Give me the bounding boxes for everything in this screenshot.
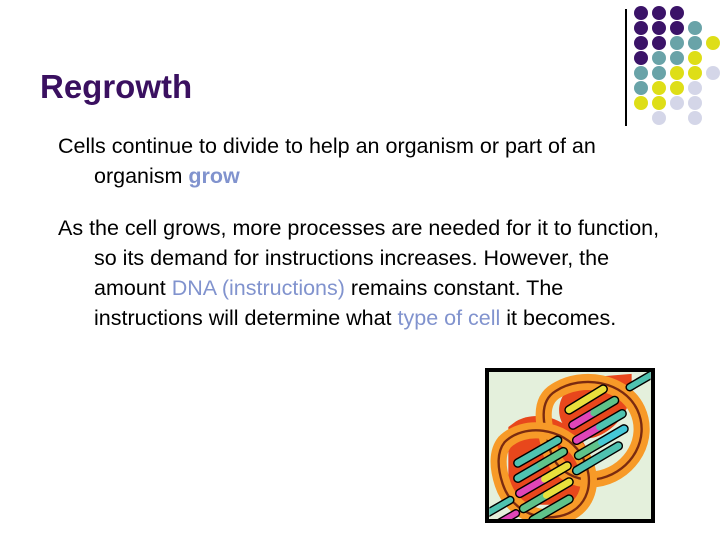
decorative-dot: [688, 36, 702, 50]
decorative-dot: [706, 66, 720, 80]
highlight-dna-instructions: DNA (instructions): [172, 276, 345, 300]
highlight-type-of-cell: type of cell: [398, 306, 501, 330]
decorative-dot: [670, 96, 684, 110]
body-paragraph-2: As the cell grows, more processes are ne…: [58, 213, 673, 333]
decorative-dot: [688, 111, 702, 125]
decorative-dot: [652, 66, 666, 80]
decorative-dot: [652, 96, 666, 110]
decorative-dot: [634, 66, 648, 80]
dna-helix-icon: [489, 372, 651, 519]
title-vertical-rule: [625, 9, 627, 126]
decorative-dot: [670, 36, 684, 50]
decorative-dot: [652, 21, 666, 35]
decorative-dot: [652, 111, 666, 125]
paragraph-1-text: Cells continue to divide to help an orga…: [58, 134, 596, 188]
highlight-grow: grow: [188, 164, 239, 188]
paragraph-2-text-c: it becomes.: [500, 306, 616, 330]
decorative-dot: [670, 51, 684, 65]
slide-canvas: Regrowth Cells continue to divide to hel…: [0, 0, 720, 540]
body-paragraph-1: Cells continue to divide to help an orga…: [58, 131, 673, 191]
decorative-dot: [652, 51, 666, 65]
decorative-dot: [688, 81, 702, 95]
decorative-dot: [634, 6, 648, 20]
decorative-dot-matrix: [634, 6, 720, 118]
decorative-dot: [634, 81, 648, 95]
decorative-dot: [670, 81, 684, 95]
decorative-dot: [652, 6, 666, 20]
decorative-dot: [634, 21, 648, 35]
page-title: Regrowth: [40, 68, 192, 106]
decorative-dot: [670, 21, 684, 35]
decorative-dot: [634, 36, 648, 50]
decorative-dot: [670, 66, 684, 80]
decorative-dot: [634, 96, 648, 110]
dna-double-helix-image: [485, 368, 655, 523]
decorative-dot: [688, 66, 702, 80]
decorative-dot: [688, 21, 702, 35]
decorative-dot: [670, 6, 684, 20]
body-copy: Cells continue to divide to help an orga…: [58, 131, 673, 333]
decorative-dot: [634, 51, 648, 65]
decorative-dot: [688, 51, 702, 65]
decorative-dot: [652, 36, 666, 50]
decorative-dot: [706, 36, 720, 50]
decorative-dot: [688, 96, 702, 110]
decorative-dot: [652, 81, 666, 95]
